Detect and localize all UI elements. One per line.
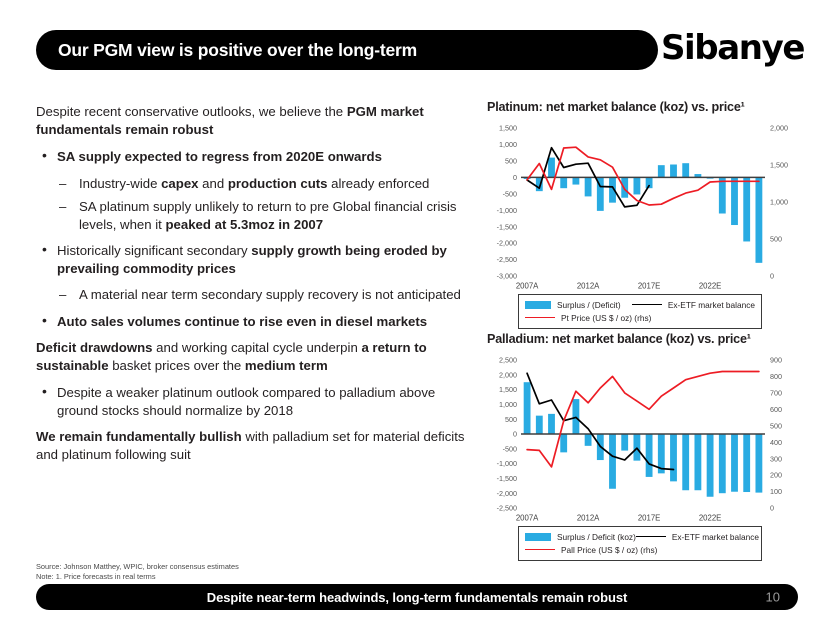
palladium-chart-title: Palladium: net market balance (koz) vs. …	[487, 332, 799, 346]
y-axis-tick-label: -500	[503, 189, 517, 198]
legend-surplus-deficit: Surplus / (Deficit)	[525, 300, 632, 310]
y2-axis-tick-label: 100	[770, 487, 782, 496]
x-axis-tick-label: 2007A	[516, 282, 539, 291]
chart-bar	[609, 434, 616, 489]
chart-bar	[560, 434, 567, 452]
x-axis-tick-label: 2022E	[699, 514, 722, 523]
y-axis-tick-label: -500	[503, 444, 517, 453]
y-axis-tick-label: -2,500	[497, 504, 517, 513]
chart-bar	[524, 382, 531, 434]
bar-swatch-icon	[525, 533, 551, 541]
bullet-list-secondary: Despite a weaker platinum outlook compar…	[36, 384, 474, 419]
chart-bar	[658, 165, 665, 177]
intro-lead: Despite recent conservative outlooks, we…	[36, 104, 347, 119]
chart-bar	[585, 177, 592, 196]
palladium-svg: 2,5002,0001,5001,0005000-500-1,000-1,500…	[487, 352, 799, 524]
footer-message: Despite near-term headwinds, long-term f…	[207, 590, 627, 605]
sub-bullet-list: A material near term secondary supply re…	[57, 286, 474, 304]
chart-bar	[755, 434, 762, 493]
y-axis-tick-label: -2,000	[497, 239, 517, 248]
list-item-label: Despite a weaker platinum outlook compar…	[57, 385, 435, 418]
chart-bar	[743, 177, 750, 241]
legend-label: Pt Price (US $ / oz) (rhs)	[561, 313, 651, 323]
list-item: Historically significant secondary suppl…	[36, 242, 474, 304]
line-swatch-icon	[632, 304, 662, 305]
y-axis-tick-label: 500	[505, 415, 517, 424]
platinum-chart-title: Platinum: net market balance (koz) vs. p…	[487, 100, 799, 114]
bullet-list-primary: SA supply expected to regress from 2020E…	[36, 148, 474, 330]
deficit-paragraph: Deficit drawdowns and working capital cy…	[36, 339, 474, 374]
palladium-chart-block: Palladium: net market balance (koz) vs. …	[487, 332, 799, 561]
legend-price: Pall Price (US $ / oz) (rhs)	[525, 545, 657, 555]
platinum-chart-block: Platinum: net market balance (koz) vs. p…	[487, 100, 799, 329]
chart-bar	[682, 434, 689, 490]
chart-bar	[572, 399, 579, 434]
legend-label: Surplus / (Deficit)	[557, 300, 621, 310]
y2-axis-tick-label: 200	[770, 471, 782, 480]
sub-list-item: SA platinum supply unlikely to return to…	[57, 198, 474, 233]
y-axis-tick-label: -1,500	[497, 222, 517, 231]
bullish-paragraph: We remain fundamentally bullish with pal…	[36, 428, 474, 463]
y2-axis-tick-label: 600	[770, 405, 782, 414]
x-axis-tick-label: 2007A	[516, 514, 539, 523]
y2-axis-tick-label: 1,500	[770, 161, 788, 170]
y-axis-tick-label: 0	[513, 430, 517, 439]
chart-bar	[646, 434, 653, 477]
palladium-chart-canvas: 2,5002,0001,5001,0005000-500-1,000-1,500…	[487, 352, 799, 524]
list-item: Despite a weaker platinum outlook compar…	[36, 384, 474, 419]
legend-exetf: Ex-ETF market balance	[632, 300, 755, 310]
y-axis-tick-label: -1,000	[497, 206, 517, 215]
palladium-chart-legend: Surplus / Deficit (koz) Ex-ETF market ba…	[518, 526, 762, 561]
y-axis-tick-label: -2,500	[497, 255, 517, 264]
chart-bar	[633, 434, 640, 461]
chart-bar	[707, 434, 714, 497]
list-item-label: Historically significant secondary suppl…	[57, 243, 447, 276]
chart-bar	[548, 158, 555, 178]
chart-bar	[731, 177, 738, 225]
y-axis-tick-label: 2,500	[499, 356, 517, 365]
content-column: Despite recent conservative outlooks, we…	[36, 103, 474, 473]
slide-footer-banner: Despite near-term headwinds, long-term f…	[36, 584, 798, 610]
y-axis-tick-label: 1,500	[499, 124, 517, 133]
list-item-label: SA supply expected to regress from 2020E…	[57, 149, 382, 164]
x-axis-tick-label: 2017E	[638, 282, 661, 291]
x-axis-tick-label: 2012A	[577, 514, 600, 523]
page-number: 10	[766, 590, 780, 605]
sub-list-item: Industry-wide capex and production cuts …	[57, 175, 474, 193]
legend-label: Surplus / Deficit (koz)	[557, 532, 636, 542]
y2-axis-tick-label: 800	[770, 372, 782, 381]
chart-bar	[548, 414, 555, 434]
y2-axis-tick-label: 700	[770, 388, 782, 397]
source-note: Source: Johnson Matthey, WPIC, broker co…	[36, 562, 239, 582]
y2-axis-tick-label: 400	[770, 438, 782, 447]
legend-exetf: Ex-ETF market balance	[636, 532, 759, 542]
y2-axis-tick-label: 300	[770, 454, 782, 463]
y-axis-tick-label: 0	[513, 173, 517, 182]
chart-bar	[670, 434, 677, 481]
chart-bar	[731, 434, 738, 492]
chart-bar	[633, 177, 640, 194]
y-axis-tick-label: 2,000	[499, 370, 517, 379]
legend-label: Pall Price (US $ / oz) (rhs)	[561, 545, 657, 555]
platinum-svg: 1,5001,0005000-500-1,000-1,500-2,000-2,5…	[487, 120, 799, 292]
chart-bar	[621, 177, 628, 197]
line-swatch-icon	[636, 536, 666, 537]
y2-axis-tick-label: 500	[770, 235, 782, 244]
y-axis-tick-label: -1,500	[497, 474, 517, 483]
chart-bar	[755, 177, 762, 263]
legend-label: Ex-ETF market balance	[672, 532, 759, 542]
legend-price: Pt Price (US $ / oz) (rhs)	[525, 313, 657, 323]
chart-bar	[670, 165, 677, 178]
chart-bar	[694, 434, 701, 490]
x-axis-tick-label: 2022E	[699, 282, 722, 291]
source-line-2: Note: 1. Price forecasts in real terms	[36, 572, 239, 582]
platinum-chart-legend: Surplus / (Deficit) Ex-ETF market balanc…	[518, 294, 762, 329]
y-axis-tick-label: 500	[505, 156, 517, 165]
page-title: Our PGM view is positive over the long-t…	[36, 40, 417, 61]
slide-title-banner: Our PGM view is positive over the long-t…	[36, 30, 658, 70]
sub-list-item: A material near term secondary supply re…	[57, 286, 474, 304]
chart-bar	[682, 163, 689, 177]
list-item: SA supply expected to regress from 2020E…	[36, 148, 474, 233]
chart-bar	[560, 177, 567, 188]
legend-label: Ex-ETF market balance	[668, 300, 755, 310]
chart-bar	[536, 416, 543, 434]
y2-axis-tick-label: 0	[770, 272, 774, 281]
x-axis-tick-label: 2017E	[638, 514, 661, 523]
platinum-chart-canvas: 1,5001,0005000-500-1,000-1,500-2,000-2,5…	[487, 120, 799, 292]
chart-bar	[621, 434, 628, 451]
red-line-swatch-icon	[525, 549, 555, 550]
y2-axis-tick-label: 0	[770, 504, 774, 513]
y-axis-tick-label: -1,000	[497, 459, 517, 468]
y2-axis-tick-label: 2,000	[770, 124, 788, 133]
y2-axis-tick-label: 900	[770, 356, 782, 365]
bar-swatch-icon	[525, 301, 551, 309]
chart-bar	[572, 177, 579, 184]
red-line-swatch-icon	[525, 317, 555, 318]
legend-surplus-deficit: Surplus / Deficit (koz)	[525, 532, 636, 542]
y-axis-tick-label: 1,000	[499, 400, 517, 409]
source-line-1: Source: Johnson Matthey, WPIC, broker co…	[36, 562, 239, 572]
chart-bar	[719, 434, 726, 493]
y-axis-tick-label: 1,000	[499, 140, 517, 149]
list-item: Auto sales volumes continue to rise even…	[36, 313, 474, 331]
chart-bar	[719, 177, 726, 213]
sub-bullet-list: Industry-wide capex and production cuts …	[57, 175, 474, 234]
chart-bar	[585, 434, 592, 446]
y-axis-tick-label: 1,500	[499, 385, 517, 394]
x-axis-tick-label: 2012A	[577, 282, 600, 291]
y2-axis-tick-label: 500	[770, 421, 782, 430]
chart-bar	[743, 434, 750, 492]
intro-paragraph: Despite recent conservative outlooks, we…	[36, 103, 474, 138]
y-axis-tick-label: -2,000	[497, 489, 517, 498]
sibanye-logo: Sibanye	[661, 28, 804, 68]
y2-axis-tick-label: 1,000	[770, 198, 788, 207]
y-axis-tick-label: -3,000	[497, 272, 517, 281]
list-item-label: Auto sales volumes continue to rise even…	[57, 314, 427, 329]
